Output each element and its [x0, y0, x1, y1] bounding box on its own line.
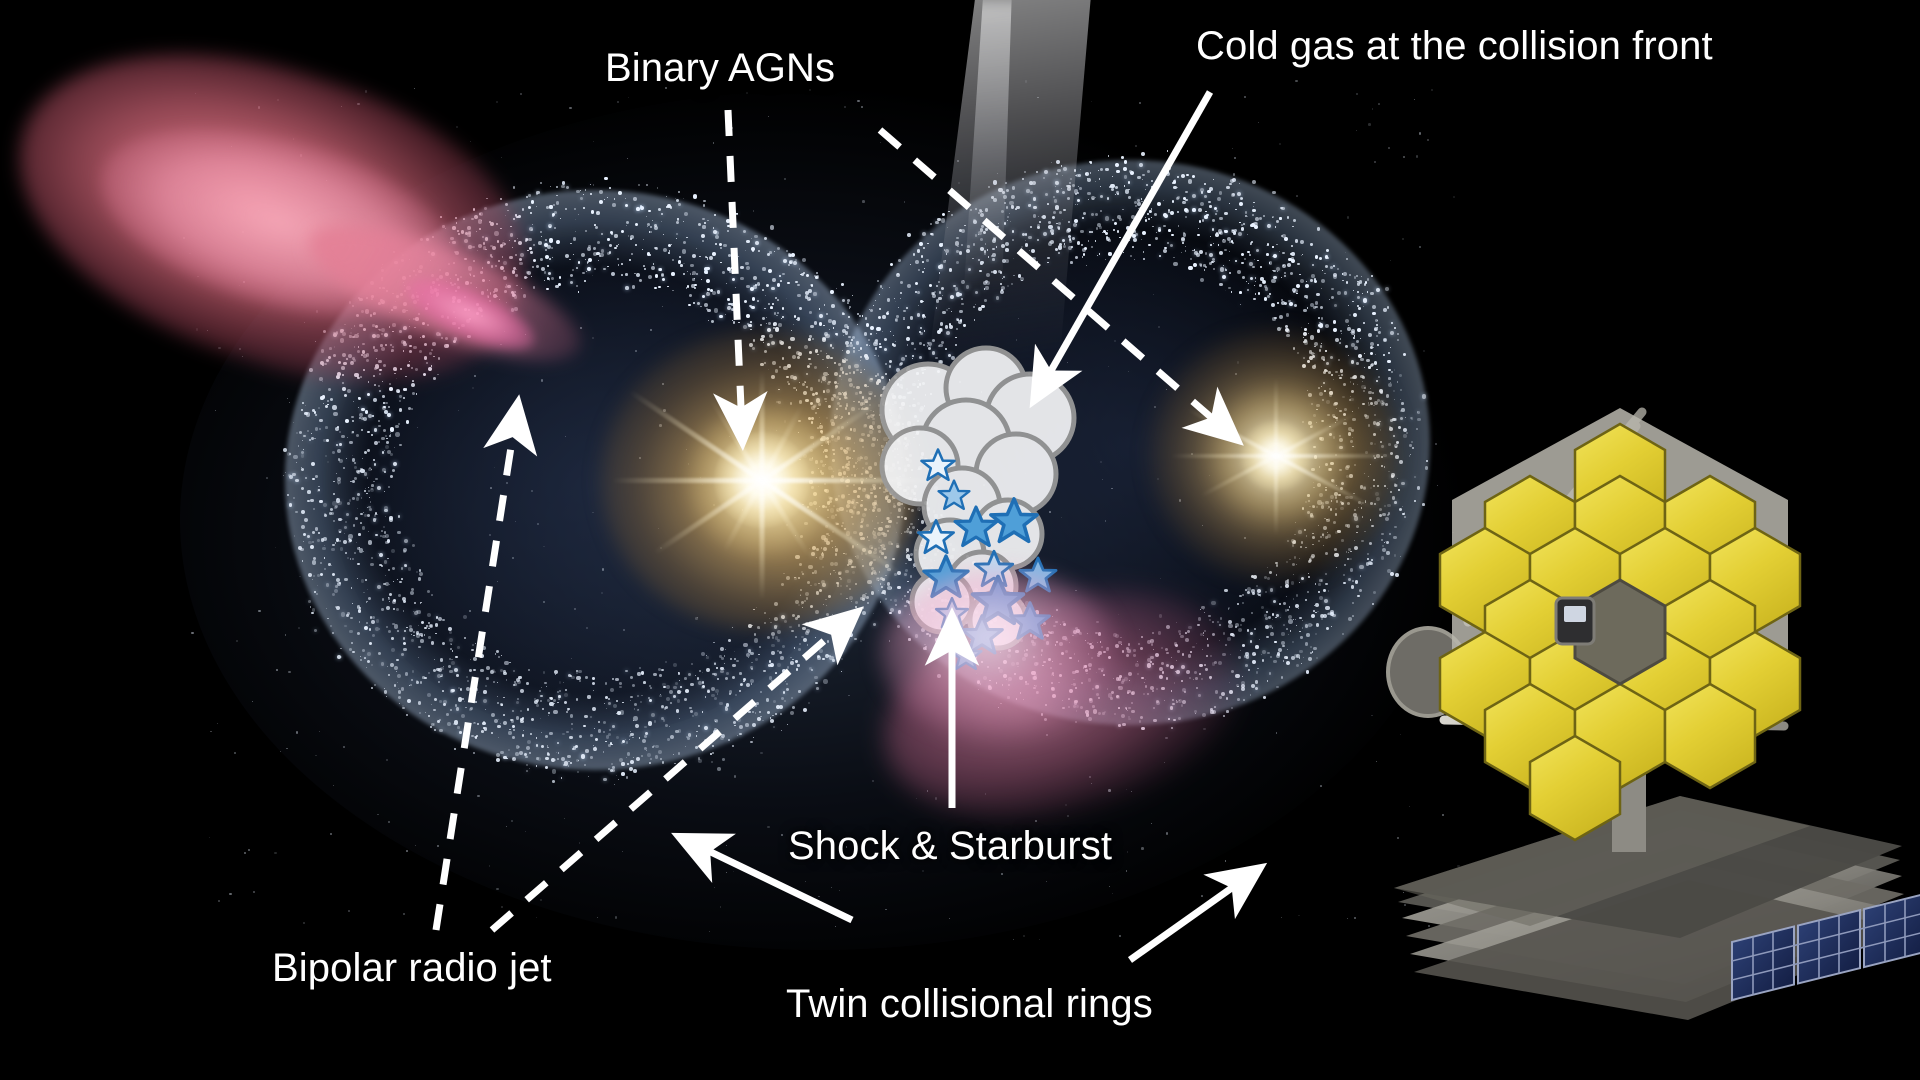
- label-shock-and-starburst: Shock & Starburst: [788, 824, 1112, 869]
- diffraction-spike: [760, 480, 765, 600]
- diffraction-spike: [761, 478, 905, 577]
- primary-mirror-segments: [1440, 424, 1800, 840]
- radio-jet-lobe-inner-loop: [79, 92, 480, 353]
- left-agn-core-flare: [714, 432, 810, 528]
- left-collisional-ring: [285, 190, 905, 770]
- diffraction-spike: [762, 478, 952, 483]
- secondary-mirror-boom: [1444, 412, 1784, 726]
- diffraction-spike: [1275, 411, 1358, 458]
- diffraction-spike: [710, 398, 765, 481]
- leader-bipolar-jet-upper: [436, 415, 516, 930]
- secondary-mirror: [1388, 628, 1468, 716]
- diffraction-spike: [628, 388, 763, 482]
- instrument-window: [1564, 606, 1586, 622]
- background-nebulosity: [180, 90, 1460, 950]
- leader-bipolar-jet-lower: [492, 620, 848, 930]
- annotation-leader-lines: [0, 0, 1920, 1080]
- radio-jet-detached-knot: [396, 264, 543, 365]
- diffraction-spike: [1200, 454, 1277, 497]
- label-bipolar-radio-jet: Bipolar radio jet: [272, 946, 552, 991]
- illustration-canvas: Binary AGNs Cold gas at the collision fr…: [0, 0, 1920, 1080]
- diffraction-spike: [722, 479, 764, 552]
- diffraction-spike: [1275, 454, 1374, 509]
- diffraction-spike: [761, 400, 880, 482]
- label-cold-gas-at-collision-front: Cold gas at the collision front: [1196, 24, 1713, 69]
- label-twin-collisional-rings: Twin collisional rings: [786, 982, 1153, 1027]
- diffraction-spike: [760, 404, 804, 481]
- aft-optics-hexagon: [1575, 580, 1665, 684]
- instrument-module: [1556, 598, 1594, 644]
- left-agn-bulge: [600, 330, 920, 630]
- cold-gas-plume: [860, 0, 1160, 380]
- diffraction-spike: [1171, 454, 1276, 458]
- solar-panel-icon: [1732, 894, 1920, 1000]
- leader-cold-gas: [1040, 92, 1210, 390]
- label-binary-agns: Binary AGNs: [605, 46, 835, 91]
- leader-binary-agns-left: [728, 110, 742, 430]
- diffraction-spike: [1274, 456, 1278, 536]
- left-ring-inner-glow: [330, 235, 860, 735]
- diffraction-spike: [1276, 454, 1396, 458]
- diffraction-spike: [653, 478, 764, 555]
- radio-jet-beam: [294, 199, 595, 387]
- diffraction-spike: [1274, 378, 1278, 456]
- cold-gas-plume-streamers: [900, 0, 1080, 330]
- sunshield-icon: [1394, 796, 1908, 1020]
- diffraction-spike: [1187, 407, 1277, 457]
- diffraction-spike: [760, 370, 765, 480]
- leader-binary-agns-right: [880, 130, 1228, 432]
- radio-jet-lobe-outer: [0, 0, 562, 433]
- leader-twin-rings-right: [1130, 875, 1250, 960]
- mirror-support-strut: [1612, 762, 1646, 852]
- diffraction-spike: [612, 478, 762, 483]
- left-agn-core-halo: [684, 402, 840, 558]
- right-agn-bulge: [1150, 330, 1400, 580]
- right-agn-core-halo: [1206, 386, 1346, 526]
- diffraction-spike: [760, 479, 812, 558]
- jwst-telescope-icon: [1380, 390, 1920, 1030]
- mirror-backplate: [1452, 408, 1788, 782]
- shock-front-glow: [880, 570, 1120, 740]
- right-agn-core-flare: [1240, 420, 1312, 492]
